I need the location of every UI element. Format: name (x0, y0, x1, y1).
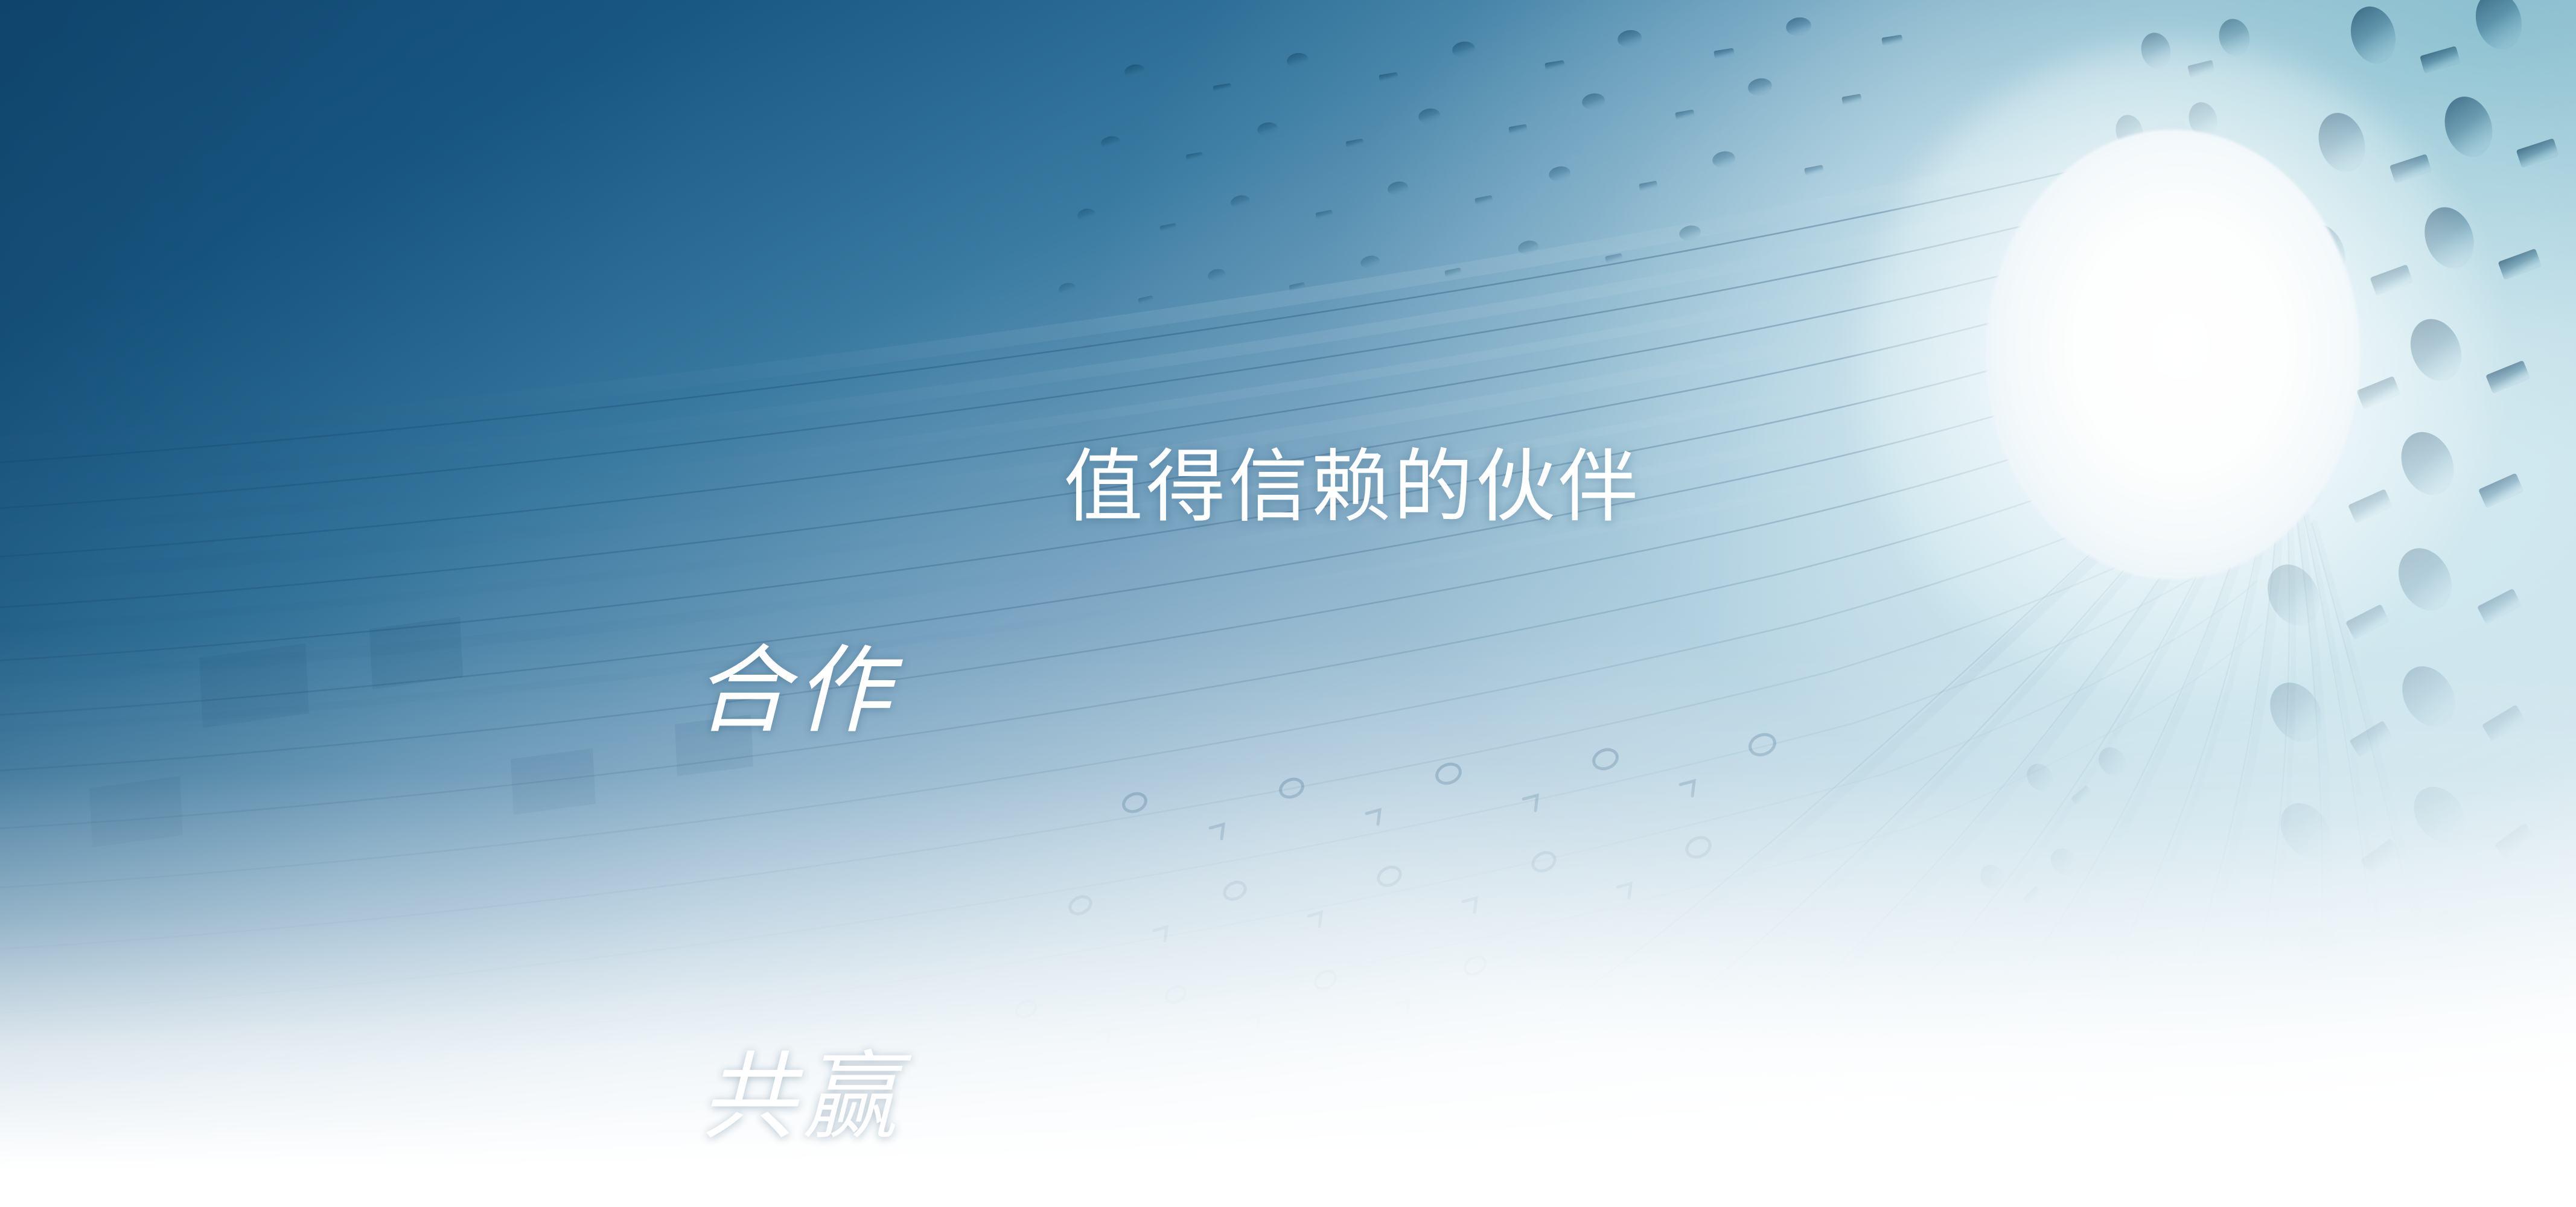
banner-copy: 合作 共赢 值得信赖的伙伴 (0, 0, 2576, 1207)
headline-line-2: 共赢 (694, 1031, 903, 1166)
headline-line-1: 合作 (694, 625, 903, 760)
hero-banner: 合作 共赢 值得信赖的伙伴 (0, 0, 2576, 1207)
banner-headline: 合作 共赢 (694, 354, 903, 1207)
banner-subtitle: 值得信赖的伙伴 (1063, 448, 1640, 527)
